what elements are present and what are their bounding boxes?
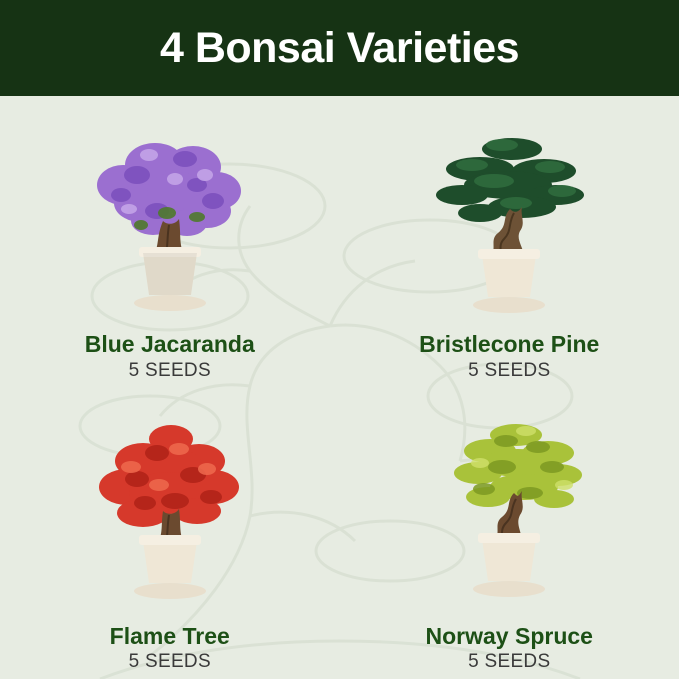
bonsai-image-blue-jacaranda: [45, 113, 295, 328]
bonsai-image-norway-spruce: [384, 405, 634, 620]
variety-card-blue-jacaranda[interactable]: Blue Jacaranda 5 SEEDS: [0, 96, 340, 388]
variety-seed-count: 5 SEEDS: [468, 651, 550, 673]
variety-seed-count: 5 SEEDS: [129, 360, 211, 382]
variety-name: Norway Spruce: [426, 624, 593, 648]
variety-card-flame-tree[interactable]: Flame Tree 5 SEEDS: [0, 388, 340, 679]
variety-card-norway-spruce[interactable]: Norway Spruce 5 SEEDS: [340, 388, 679, 679]
header-banner: 4 Bonsai Varieties: [0, 0, 679, 96]
variety-seed-count: 5 SEEDS: [468, 360, 550, 382]
page-title: 4 Bonsai Varieties: [160, 27, 519, 70]
variety-name: Blue Jacaranda: [85, 332, 255, 356]
variety-grid: Blue Jacaranda 5 SEEDS: [0, 96, 679, 679]
product-infographic: 4 Bonsai Varieties: [0, 0, 679, 679]
bonsai-image-flame-tree: [45, 405, 295, 620]
variety-name: Flame Tree: [110, 624, 230, 648]
variety-name: Bristlecone Pine: [419, 332, 599, 356]
bonsai-image-bristlecone-pine: [384, 113, 634, 328]
variety-seed-count: 5 SEEDS: [129, 651, 211, 673]
variety-card-bristlecone-pine[interactable]: Bristlecone Pine 5 SEEDS: [340, 96, 679, 388]
